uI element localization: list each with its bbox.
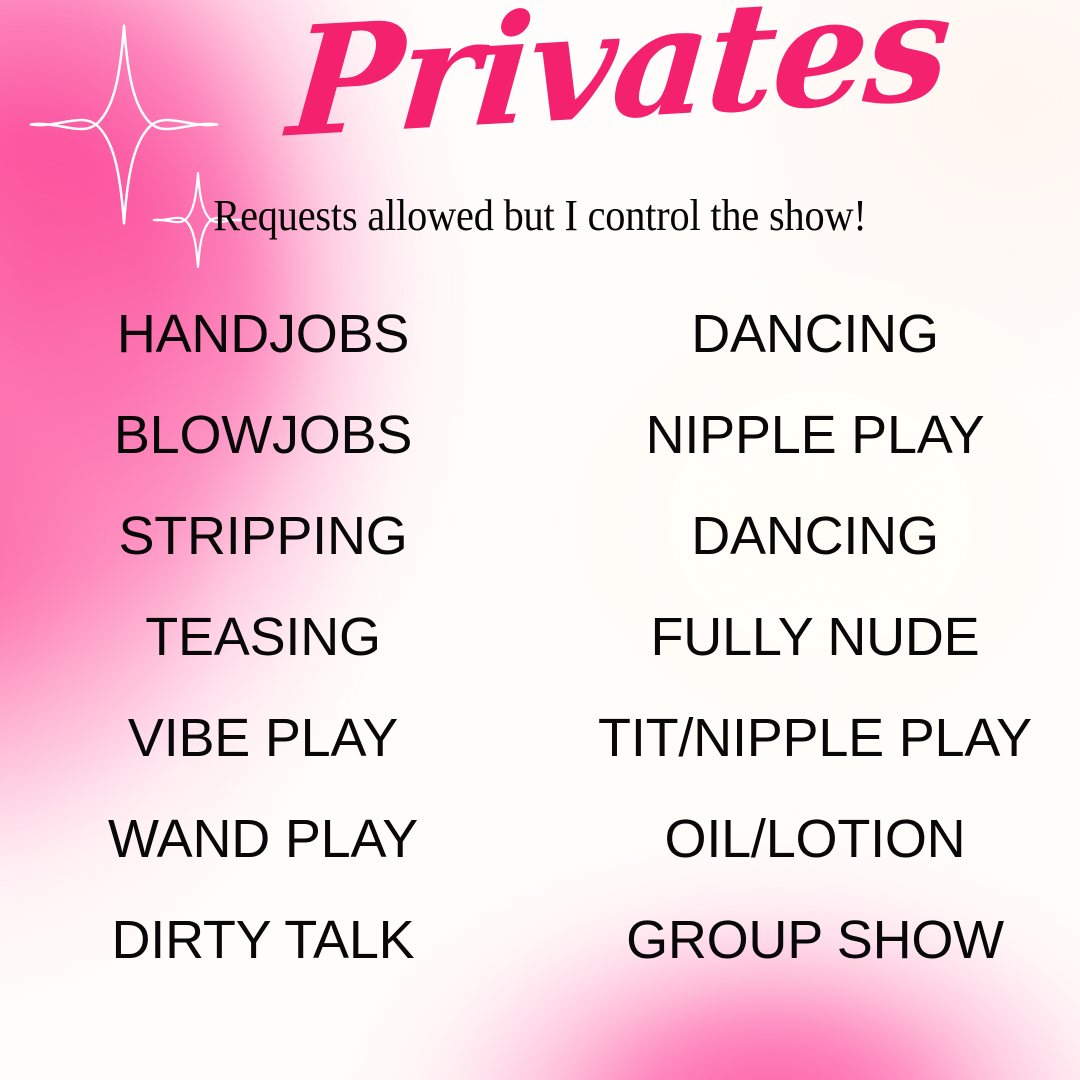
- list-item: DIRTY TALK: [0, 889, 533, 990]
- list-item: HANDJOBS: [0, 283, 533, 384]
- list-item: FULLY NUDE: [545, 586, 1080, 687]
- page-subtitle: Requests allowed but I control the show!: [46, 193, 1034, 240]
- list-item: STRIPPING: [0, 485, 533, 586]
- list-item: BLOWJOBS: [0, 384, 533, 485]
- header: Privates Requests allowed but I control …: [0, 0, 1080, 250]
- list-item: DANCING: [545, 485, 1080, 586]
- list-item: VIBE PLAY: [0, 687, 533, 788]
- page-title: Privates: [284, 0, 856, 158]
- list-item: OIL/LOTION: [545, 788, 1080, 889]
- privates-menu-graphic: Privates Requests allowed but I control …: [0, 0, 1080, 1080]
- list-item: WAND PLAY: [0, 788, 533, 889]
- list-item: TEASING: [0, 586, 533, 687]
- list-item: NIPPLE PLAY: [545, 384, 1080, 485]
- list-item: DANCING: [545, 283, 1080, 384]
- service-list: HANDJOBS DANCING BLOWJOBS NIPPLE PLAY ST…: [0, 283, 1080, 990]
- list-item: GROUP SHOW: [545, 889, 1080, 990]
- list-item: TIT/NIPPLE PLAY: [545, 687, 1080, 788]
